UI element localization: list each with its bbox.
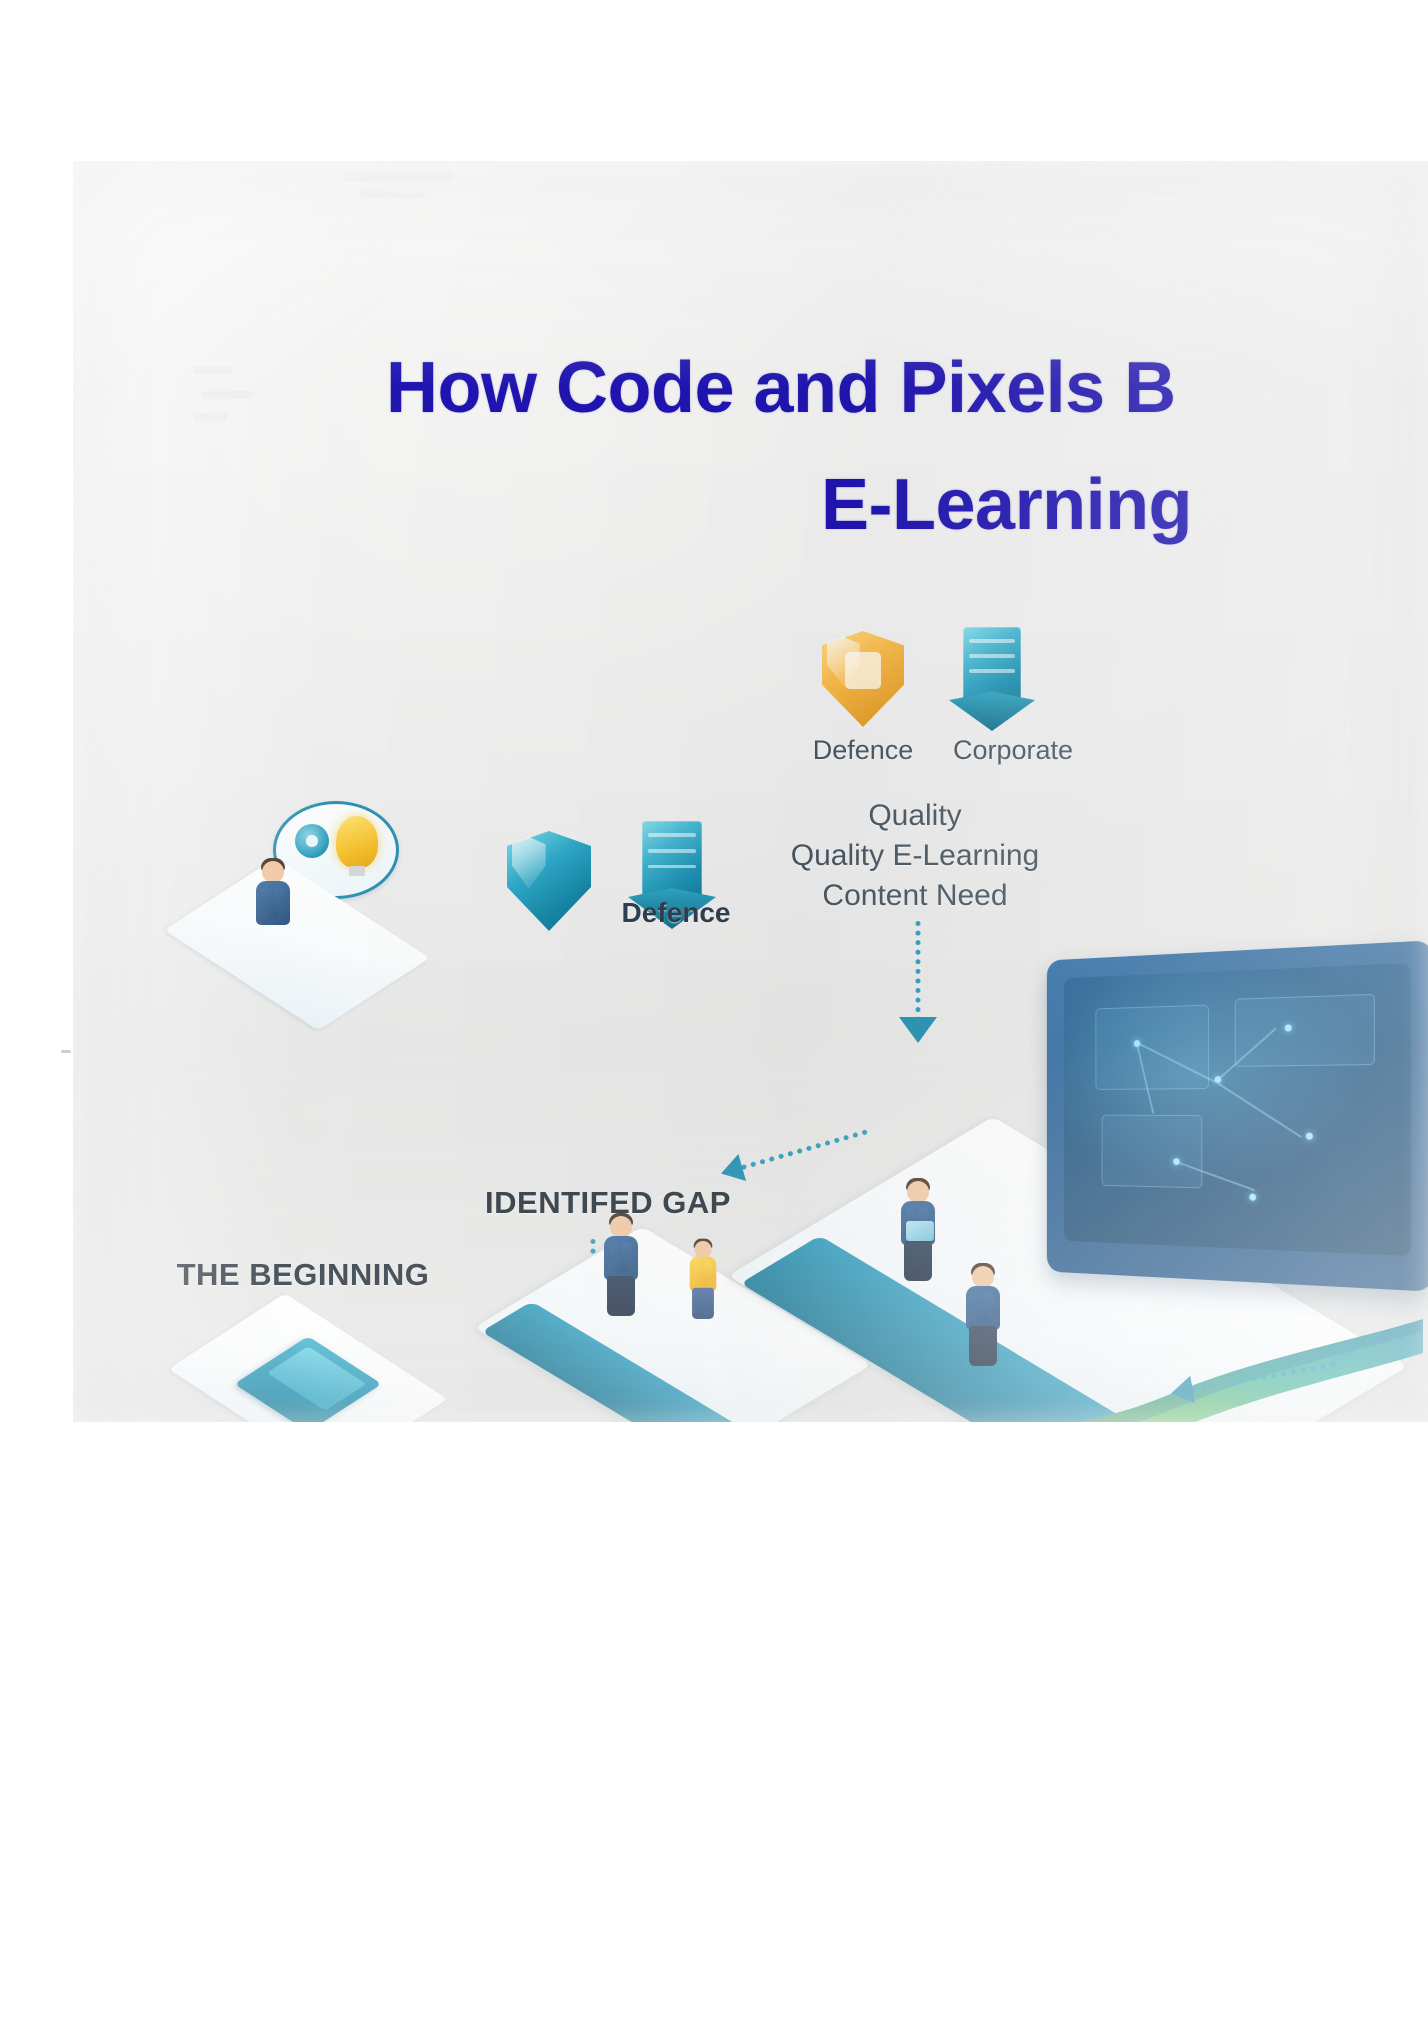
server-line (969, 639, 1016, 643)
screen-edge (1217, 1082, 1302, 1138)
paper-texture-mark (193, 413, 227, 421)
server-stack (963, 627, 1021, 702)
server-building-teal-icon (949, 627, 1035, 731)
arrow-head (717, 1154, 746, 1187)
server-stack (642, 821, 702, 899)
shield-emblem (845, 652, 881, 688)
monitor-icon (1028, 951, 1428, 1281)
server-line (969, 654, 1016, 658)
person-head (972, 1266, 994, 1288)
person-head (610, 1216, 632, 1238)
server-line (648, 849, 696, 853)
monitor-screen (1064, 963, 1411, 1256)
paper-texture-mark (193, 366, 233, 374)
quality-need-line-2: Quality E-Learning (750, 838, 1080, 875)
gap-shield-label: Defence (581, 896, 771, 930)
paper-texture-mark (201, 391, 253, 399)
page-background: How Code and Pixels B E-Learning Defence… (0, 0, 1428, 2018)
tablet-icon (906, 1221, 934, 1241)
lightbulb-icon (336, 816, 378, 868)
person-head (262, 861, 284, 883)
gear-icon (295, 824, 329, 858)
screen-node (1249, 1193, 1256, 1200)
arrow-quality-to-content (898, 921, 938, 1041)
paper-texture-mark (343, 171, 453, 181)
paper-texture-mark (359, 191, 425, 199)
platform-top (164, 858, 430, 1031)
arrow-head (899, 1017, 937, 1043)
person-legs (904, 1241, 932, 1281)
arrow-scene-to-gap (718, 1115, 872, 1189)
shield-icon (507, 831, 591, 931)
stage-label-identified-gap: IDENTIFED GAP (428, 1184, 788, 1222)
infographic-slide: How Code and Pixels B E-Learning Defence… (73, 161, 1428, 1422)
arrow-line (722, 1129, 868, 1175)
screen-node (1306, 1132, 1313, 1139)
slide-title-line-1: How Code and Pixels B (386, 347, 1176, 429)
server-line (648, 865, 696, 869)
screen-panel (1102, 1115, 1203, 1189)
person-head (694, 1241, 711, 1258)
shield-amber-icon (822, 631, 904, 727)
quality-need-line-3: Content Need (750, 878, 1080, 915)
sector-label-corporate: Corporate (918, 734, 1108, 767)
screen-node (1284, 1025, 1291, 1032)
arrow-head (1169, 1376, 1196, 1407)
screen-panel (1235, 993, 1375, 1067)
quality-need-line-1: Quality (750, 798, 1080, 835)
stage-label-the-beginning: THE BEGINNING (123, 1256, 483, 1294)
photo-left-edge-sliver (61, 1050, 71, 1053)
screen-panel (1095, 1005, 1209, 1090)
person-head (907, 1181, 929, 1203)
server-base (949, 691, 1035, 731)
slide-title-line-2: E-Learning (821, 464, 1192, 546)
beginning-platform-icon (207, 879, 387, 1009)
server-line (648, 833, 696, 837)
server-line (969, 669, 1016, 673)
